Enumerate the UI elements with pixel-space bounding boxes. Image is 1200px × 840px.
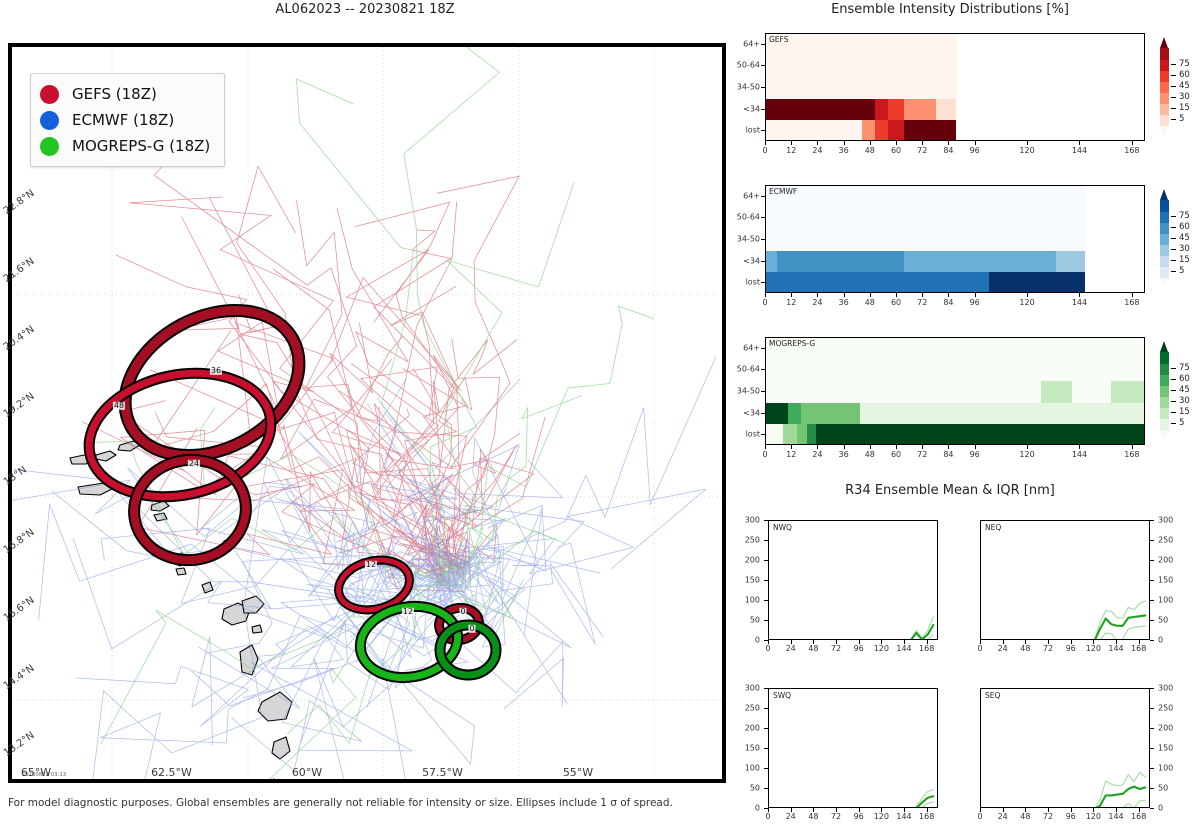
r34-panel-nwq[interactable]: NWQ050100150200250300024487296120144168 bbox=[768, 520, 938, 640]
colorbar-tick-label: 30 bbox=[1179, 244, 1190, 254]
r34-y-tick-label: 300 bbox=[745, 516, 760, 525]
r34-y-tick bbox=[1150, 748, 1154, 749]
r34-y-tick-label: 0 bbox=[1158, 804, 1163, 813]
colorbar-tick-label: 75 bbox=[1179, 211, 1190, 221]
ellipse-hour-label: 12 bbox=[365, 561, 377, 569]
r34-y-tick bbox=[1150, 808, 1154, 809]
r34-x-tick-label: 0 bbox=[765, 812, 770, 821]
r34-y-tick bbox=[764, 728, 768, 729]
r34-y-tick bbox=[1150, 560, 1154, 561]
heatmap-x-tick bbox=[870, 445, 871, 449]
r34-y-tick-label: 200 bbox=[1158, 556, 1173, 565]
r34-x-tick-label: 72 bbox=[831, 644, 841, 653]
colorbar-tick-label: 15 bbox=[1179, 255, 1190, 265]
heatmap-cell bbox=[797, 424, 808, 445]
r34-y-tick bbox=[764, 540, 768, 541]
r34-y-tick bbox=[1150, 788, 1154, 789]
heatmap-cell bbox=[1041, 381, 1072, 403]
heatmap-cell bbox=[816, 424, 1145, 445]
heatmap-x-tick bbox=[1132, 141, 1133, 145]
map-lon-tick-label: 55°W bbox=[563, 766, 593, 779]
heatmap-cell bbox=[1111, 381, 1145, 403]
r34-y-tick bbox=[1150, 688, 1154, 689]
heatmap-y-tick-label: 64+ bbox=[743, 343, 760, 352]
heatmap-x-tick bbox=[948, 141, 949, 145]
heatmap-y-tick bbox=[761, 196, 765, 197]
r34-y-tick-label: 200 bbox=[745, 556, 760, 565]
colorbar-tick-label: 30 bbox=[1179, 396, 1190, 406]
r34-x-tick-label: 120 bbox=[874, 644, 889, 653]
colorbar-segment bbox=[1160, 59, 1169, 71]
r34-y-tick-label: 250 bbox=[745, 536, 760, 545]
r34-x-tick-label: 0 bbox=[977, 644, 982, 653]
heatmap-x-tick-label: 36 bbox=[839, 450, 849, 459]
colorbar-tick bbox=[1171, 379, 1176, 380]
colorbar-min-arrow-icon bbox=[1160, 126, 1168, 137]
heatmap-x-tick-label: 24 bbox=[812, 450, 822, 459]
heatmap-x-tick bbox=[922, 293, 923, 297]
heatmap-x-tick-label: 96 bbox=[970, 450, 980, 459]
heatmap-cell bbox=[875, 120, 889, 141]
heatmap-y-tick-label: <34 bbox=[743, 104, 760, 113]
r34-axes: SEQ bbox=[980, 688, 1150, 808]
intensity-colorbar-ecmwf: 51530456075 bbox=[1160, 189, 1200, 289]
heatmap-x-tick bbox=[896, 141, 897, 145]
heatmap-x-tick bbox=[844, 141, 845, 145]
heatmap-y-tick bbox=[761, 282, 765, 283]
heatmap-x-tick-label: 24 bbox=[812, 146, 822, 155]
heatmap-cell bbox=[766, 424, 784, 445]
heatmap-model-name: ECMWF bbox=[769, 187, 797, 196]
colorbar-segment bbox=[1160, 233, 1169, 245]
heatmap-y-tick bbox=[761, 130, 765, 131]
heatmap-x-tick bbox=[765, 141, 766, 145]
ecmwf-color-swatch-icon bbox=[40, 111, 59, 130]
r34-y-tick bbox=[764, 560, 768, 561]
intensity-panel-gefs[interactable]: GEFS64+50-6434-50<34lost0122436486072849… bbox=[765, 33, 1145, 141]
heatmap-y-tick bbox=[761, 369, 765, 370]
heatmap-x-tick bbox=[1027, 293, 1028, 297]
colorbar-tick bbox=[1171, 390, 1176, 391]
colorbar-max-arrow-icon bbox=[1160, 37, 1168, 48]
r34-x-tick-label: 120 bbox=[1086, 812, 1101, 821]
colorbar-gradient bbox=[1160, 48, 1169, 126]
r34-quadrant-name: SEQ bbox=[985, 691, 1000, 700]
heatmap-x-tick bbox=[791, 293, 792, 297]
heatmap-x-tick-label: 36 bbox=[839, 298, 849, 307]
colorbar-tick bbox=[1171, 249, 1176, 250]
r34-panel-seq[interactable]: SEQ050100150200250300024487296120144168 bbox=[980, 688, 1150, 808]
colorbar-segment bbox=[1160, 374, 1169, 386]
ellipse-hour-label: 48 bbox=[113, 402, 125, 410]
r34-y-tick-label: 200 bbox=[745, 724, 760, 733]
colorbar-tick bbox=[1171, 238, 1176, 239]
heatmap-y-tick bbox=[761, 239, 765, 240]
heatmap-cell bbox=[904, 99, 937, 121]
heatmap-y-tick-label: 64+ bbox=[743, 191, 760, 200]
r34-y-tick-label: 150 bbox=[745, 576, 760, 585]
colorbar-tick-label: 75 bbox=[1179, 363, 1190, 373]
r34-x-tick-label: 168 bbox=[1131, 812, 1146, 821]
r34-section-title: R34 Ensemble Mean & IQR [nm] bbox=[740, 483, 1160, 498]
r34-y-tick bbox=[1150, 600, 1154, 601]
colorbar-min-arrow-icon bbox=[1160, 430, 1168, 441]
r34-y-tick bbox=[1150, 640, 1154, 641]
r34-x-tick-label: 24 bbox=[786, 812, 796, 821]
r34-x-tick-label: 0 bbox=[765, 644, 770, 653]
r34-axes: SWQ bbox=[768, 688, 938, 808]
colorbar-tick bbox=[1171, 260, 1176, 261]
r34-y-tick bbox=[764, 708, 768, 709]
heatmap-axes: MOGREPS-G bbox=[765, 337, 1145, 445]
page-title: AL062023 -- 20230821 18Z bbox=[0, 2, 730, 17]
r34-y-tick-label: 300 bbox=[1158, 516, 1173, 525]
heatmap-cell bbox=[904, 251, 1057, 273]
forecast-track-map[interactable]: 20230822 03:13 GEFS (18Z) ECMWF (18Z) MO… bbox=[8, 43, 726, 783]
ellipse-hour-label: 0 bbox=[459, 608, 466, 616]
heatmap-x-tick-label: 0 bbox=[762, 450, 767, 459]
ellipse-hour-label: 24 bbox=[188, 460, 200, 468]
colorbar-segment bbox=[1160, 385, 1169, 397]
map-footnote: For model diagnostic purposes. Global en… bbox=[8, 797, 673, 809]
heatmap-axes: ECMWF bbox=[765, 185, 1145, 293]
heatmap-y-tick bbox=[761, 261, 765, 262]
r34-y-tick-label: 100 bbox=[1158, 764, 1173, 773]
heatmap-x-tick bbox=[765, 293, 766, 297]
r34-y-tick bbox=[1150, 620, 1154, 621]
heatmap-y-tick-label: 50-64 bbox=[737, 213, 760, 222]
r34-y-tick-label: 100 bbox=[1158, 596, 1173, 605]
r34-x-tick-label: 168 bbox=[1131, 644, 1146, 653]
colorbar-tick bbox=[1171, 64, 1176, 65]
heatmap-x-tick bbox=[1079, 293, 1080, 297]
r34-x-tick-label: 96 bbox=[1066, 644, 1076, 653]
heatmap-cell bbox=[1072, 381, 1112, 403]
heatmap-cell bbox=[936, 99, 956, 121]
colorbar-segment bbox=[1160, 70, 1169, 82]
ellipse-hour-label: 12 bbox=[402, 608, 414, 616]
heatmap-cell bbox=[888, 99, 904, 121]
colorbar-tick-label: 60 bbox=[1179, 70, 1190, 80]
heatmap-x-tick bbox=[791, 141, 792, 145]
heatmap-x-tick bbox=[1027, 141, 1028, 145]
r34-y-tick bbox=[1150, 520, 1154, 521]
r34-x-tick-label: 48 bbox=[808, 812, 818, 821]
r34-x-tick-label: 72 bbox=[831, 812, 841, 821]
heatmap-x-tick bbox=[870, 141, 871, 145]
r34-quadrant-name: NEQ bbox=[985, 523, 1001, 532]
colorbar-tick-label: 45 bbox=[1179, 81, 1190, 91]
heatmap-x-tick-label: 84 bbox=[943, 298, 953, 307]
r34-y-tick-label: 250 bbox=[745, 704, 760, 713]
heatmap-y-tick bbox=[761, 413, 765, 414]
colorbar-tick-label: 15 bbox=[1179, 103, 1190, 113]
colorbar-tick bbox=[1171, 401, 1176, 402]
heatmap-y-tick-label: <34 bbox=[743, 408, 760, 417]
heatmap-x-tick bbox=[765, 445, 766, 449]
mogreps-color-swatch-icon bbox=[40, 137, 59, 156]
heatmap-cell bbox=[766, 56, 957, 78]
heatmap-x-tick-label: 120 bbox=[1019, 298, 1034, 307]
colorbar-segment bbox=[1160, 397, 1169, 409]
heatmap-x-tick bbox=[1027, 445, 1028, 449]
heatmap-x-tick-label: 24 bbox=[812, 298, 822, 307]
colorbar-tick-label: 60 bbox=[1179, 374, 1190, 384]
model-legend: GEFS (18Z) ECMWF (18Z) MOGREPS-G (18Z) bbox=[30, 73, 225, 167]
colorbar-tick bbox=[1171, 119, 1176, 120]
r34-x-tick-label: 72 bbox=[1043, 644, 1053, 653]
heatmap-y-tick-label: 50-64 bbox=[737, 365, 760, 374]
heatmap-x-tick-label: 84 bbox=[943, 146, 953, 155]
legend-item-mogreps: MOGREPS-G (18Z) bbox=[40, 133, 210, 159]
heatmap-cell bbox=[862, 120, 876, 141]
heatmap-x-tick-label: 12 bbox=[786, 450, 796, 459]
r34-x-tick-label: 144 bbox=[896, 812, 911, 821]
colorbar-segment bbox=[1160, 48, 1169, 60]
heatmap-cell bbox=[801, 403, 860, 425]
heatmap-x-tick-label: 0 bbox=[762, 146, 767, 155]
heatmap-x-tick-label: 0 bbox=[762, 298, 767, 307]
r34-y-tick bbox=[764, 788, 768, 789]
heatmap-cell bbox=[766, 338, 1145, 360]
heatmap-x-tick bbox=[870, 293, 871, 297]
r34-x-tick-label: 96 bbox=[1066, 812, 1076, 821]
intensity-colorbar-gefs: 51530456075 bbox=[1160, 37, 1200, 137]
r34-x-tick-label: 24 bbox=[998, 644, 1008, 653]
heatmap-cell bbox=[766, 251, 777, 273]
heatmap-axes: GEFS bbox=[765, 33, 1145, 141]
heatmap-cell bbox=[766, 99, 876, 121]
heatmap-x-tick bbox=[975, 293, 976, 297]
heatmap-x-tick bbox=[975, 445, 976, 449]
heatmap-cell bbox=[766, 229, 1085, 251]
colorbar-tick bbox=[1171, 108, 1176, 109]
colorbar-segment bbox=[1160, 256, 1169, 268]
heatmap-y-tick-label: 34-50 bbox=[737, 387, 760, 396]
heatmap-y-tick-label: lost bbox=[746, 278, 760, 287]
r34-series-graphics bbox=[769, 521, 938, 640]
r34-y-tick bbox=[1150, 540, 1154, 541]
colorbar-tick-label: 30 bbox=[1179, 92, 1190, 102]
map-lon-tick-label: 65°W bbox=[21, 766, 51, 779]
heatmap-y-tick-label: <34 bbox=[743, 256, 760, 265]
heatmap-y-tick bbox=[761, 434, 765, 435]
heatmap-y-tick bbox=[761, 44, 765, 45]
heatmap-cell bbox=[766, 120, 863, 141]
heatmap-x-tick bbox=[817, 445, 818, 449]
colorbar-segment bbox=[1160, 352, 1169, 364]
r34-y-tick bbox=[1150, 768, 1154, 769]
heatmap-cell bbox=[875, 99, 889, 121]
heatmap-x-tick-label: 48 bbox=[865, 146, 875, 155]
heatmap-x-tick bbox=[791, 445, 792, 449]
colorbar-gradient bbox=[1160, 352, 1169, 430]
colorbar-max-arrow-icon bbox=[1160, 341, 1168, 352]
r34-y-tick bbox=[764, 748, 768, 749]
heatmap-x-tick bbox=[817, 141, 818, 145]
heatmap-x-tick-label: 60 bbox=[891, 146, 901, 155]
r34-x-tick-label: 72 bbox=[1043, 812, 1053, 821]
heatmap-cell bbox=[766, 186, 1085, 208]
heatmap-y-tick bbox=[761, 348, 765, 349]
heatmap-x-tick-label: 96 bbox=[970, 146, 980, 155]
colorbar-segment bbox=[1160, 115, 1169, 127]
heatmap-cell bbox=[783, 424, 797, 445]
r34-y-tick bbox=[764, 768, 768, 769]
colorbar-segment bbox=[1160, 222, 1169, 234]
intensity-panel-ecmwf[interactable]: ECMWF64+50-6434-50<34lost012243648607284… bbox=[765, 185, 1145, 293]
heatmap-x-tick-label: 120 bbox=[1019, 450, 1034, 459]
colorbar-tick-label: 15 bbox=[1179, 407, 1190, 417]
r34-series-graphics bbox=[981, 689, 1150, 808]
r34-y-tick bbox=[764, 620, 768, 621]
heatmap-x-tick-label: 60 bbox=[891, 450, 901, 459]
r34-panel-swq[interactable]: SWQ050100150200250300024487296120144168 bbox=[768, 688, 938, 808]
r34-y-tick-label: 50 bbox=[750, 616, 760, 625]
r34-y-tick-label: 50 bbox=[1158, 784, 1168, 793]
r34-y-tick bbox=[1150, 728, 1154, 729]
r34-y-tick-label: 300 bbox=[745, 684, 760, 693]
r34-x-tick-label: 144 bbox=[1108, 812, 1123, 821]
heatmap-x-tick bbox=[1079, 141, 1080, 145]
heatmap-x-tick bbox=[1079, 445, 1080, 449]
heatmap-x-tick bbox=[1132, 445, 1133, 449]
colorbar-tick bbox=[1171, 86, 1176, 87]
heatmap-x-tick-label: 84 bbox=[943, 450, 953, 459]
heatmap-x-tick bbox=[975, 141, 976, 145]
heatmap-cell bbox=[766, 360, 1145, 382]
ellipse-hour-label: 0 bbox=[468, 625, 475, 633]
legend-item-gefs: GEFS (18Z) bbox=[40, 81, 210, 107]
heatmap-cell bbox=[860, 403, 1042, 425]
heatmap-cell bbox=[777, 251, 904, 273]
r34-y-tick-label: 250 bbox=[1158, 704, 1173, 713]
heatmap-model-name: MOGREPS-G bbox=[769, 339, 815, 348]
heatmap-cell bbox=[1056, 251, 1085, 273]
r34-y-tick-label: 50 bbox=[1158, 616, 1168, 625]
r34-x-tick-label: 120 bbox=[1086, 644, 1101, 653]
heatmap-x-tick-label: 72 bbox=[917, 146, 927, 155]
r34-x-tick-label: 24 bbox=[998, 812, 1008, 821]
r34-x-tick-label: 168 bbox=[919, 644, 934, 653]
heatmap-cell bbox=[989, 272, 1086, 293]
r34-y-tick bbox=[764, 580, 768, 581]
r34-y-tick-label: 50 bbox=[750, 784, 760, 793]
heatmap-x-tick bbox=[896, 445, 897, 449]
r34-x-tick-label: 144 bbox=[1108, 644, 1123, 653]
colorbar-segment bbox=[1160, 245, 1169, 257]
heatmap-y-tick-label: lost bbox=[746, 126, 760, 135]
heatmap-x-tick-label: 144 bbox=[1072, 450, 1087, 459]
heatmap-x-tick-label: 96 bbox=[970, 298, 980, 307]
r34-x-tick-label: 24 bbox=[786, 644, 796, 653]
heatmap-cell bbox=[766, 77, 957, 99]
heatmap-x-tick-label: 168 bbox=[1124, 298, 1139, 307]
heatmap-x-tick-label: 168 bbox=[1124, 146, 1139, 155]
heatmap-x-tick-label: 36 bbox=[839, 146, 849, 155]
heatmap-y-tick-label: 34-50 bbox=[737, 235, 760, 244]
r34-quadrant-name: SWQ bbox=[773, 691, 791, 700]
r34-y-tick-label: 150 bbox=[1158, 576, 1173, 585]
heatmap-y-tick-label: 34-50 bbox=[737, 83, 760, 92]
heatmap-x-tick bbox=[896, 293, 897, 297]
r34-y-tick-label: 150 bbox=[745, 744, 760, 753]
r34-y-tick-label: 200 bbox=[1158, 724, 1173, 733]
colorbar-segment bbox=[1160, 200, 1169, 212]
r34-x-tick-label: 48 bbox=[1020, 644, 1030, 653]
heatmap-y-tick bbox=[761, 87, 765, 88]
colorbar-tick bbox=[1171, 423, 1176, 424]
r34-y-tick-label: 100 bbox=[745, 596, 760, 605]
heatmap-x-tick-label: 12 bbox=[786, 298, 796, 307]
colorbar-tick bbox=[1171, 368, 1176, 369]
colorbar-tick bbox=[1171, 216, 1176, 217]
colorbar-tick-label: 45 bbox=[1179, 385, 1190, 395]
r34-series-graphics bbox=[981, 521, 1150, 640]
colorbar-tick bbox=[1171, 97, 1176, 98]
r34-x-tick-label: 144 bbox=[896, 644, 911, 653]
heatmap-model-name: GEFS bbox=[769, 35, 789, 44]
map-lon-tick-label: 60°W bbox=[292, 766, 322, 779]
heatmap-y-tick bbox=[761, 217, 765, 218]
legend-item-ecmwf: ECMWF (18Z) bbox=[40, 107, 210, 133]
r34-panel-neq[interactable]: NEQ050100150200250300024487296120144168 bbox=[980, 520, 1150, 640]
colorbar-tick bbox=[1171, 227, 1176, 228]
heatmap-x-tick-label: 144 bbox=[1072, 298, 1087, 307]
heatmap-x-tick bbox=[948, 293, 949, 297]
r34-y-tick bbox=[764, 520, 768, 521]
r34-y-tick bbox=[764, 600, 768, 601]
intensity-section-title: Ensemble Intensity Distributions [%] bbox=[740, 2, 1160, 17]
ellipse-hour-label: 36 bbox=[210, 367, 222, 375]
heatmap-cell bbox=[766, 272, 989, 293]
heatmap-x-tick-label: 60 bbox=[891, 298, 901, 307]
heatmap-cell bbox=[904, 120, 957, 141]
intensity-panel-mogreps-g[interactable]: MOGREPS-G64+50-6434-50<34lost01224364860… bbox=[765, 337, 1145, 445]
colorbar-segment bbox=[1160, 211, 1169, 223]
heatmap-x-tick-label: 144 bbox=[1072, 146, 1087, 155]
heatmap-x-tick-label: 12 bbox=[786, 146, 796, 155]
r34-y-tick-label: 300 bbox=[1158, 684, 1173, 693]
heatmap-x-tick bbox=[922, 141, 923, 145]
colorbar-tick-label: 75 bbox=[1179, 59, 1190, 69]
colorbar-min-arrow-icon bbox=[1160, 278, 1168, 289]
heatmap-y-tick bbox=[761, 65, 765, 66]
colorbar-segment bbox=[1160, 93, 1169, 105]
heatmap-x-tick-label: 168 bbox=[1124, 450, 1139, 459]
colorbar-segment bbox=[1160, 408, 1169, 420]
r34-y-tick-label: 0 bbox=[755, 636, 760, 645]
legend-label-ecmwf: ECMWF (18Z) bbox=[72, 111, 174, 129]
legend-label-mogreps: MOGREPS-G (18Z) bbox=[72, 137, 210, 155]
r34-y-tick-label: 0 bbox=[755, 804, 760, 813]
r34-quadrant-name: NWQ bbox=[773, 523, 792, 532]
heatmap-x-tick-label: 48 bbox=[865, 298, 875, 307]
colorbar-segment bbox=[1160, 81, 1169, 93]
colorbar-segment bbox=[1160, 104, 1169, 116]
r34-y-tick-label: 0 bbox=[1158, 636, 1163, 645]
colorbar-gradient bbox=[1160, 200, 1169, 278]
r34-y-tick-label: 150 bbox=[1158, 744, 1173, 753]
r34-x-tick-label: 120 bbox=[874, 812, 889, 821]
r34-x-tick-label: 168 bbox=[919, 812, 934, 821]
r34-x-tick-label: 0 bbox=[977, 812, 982, 821]
heatmap-cell bbox=[888, 120, 904, 141]
heatmap-x-tick bbox=[948, 445, 949, 449]
r34-axes: NWQ bbox=[768, 520, 938, 640]
heatmap-cell bbox=[1041, 403, 1145, 425]
map-lon-tick-label: 62.5°W bbox=[151, 766, 192, 779]
